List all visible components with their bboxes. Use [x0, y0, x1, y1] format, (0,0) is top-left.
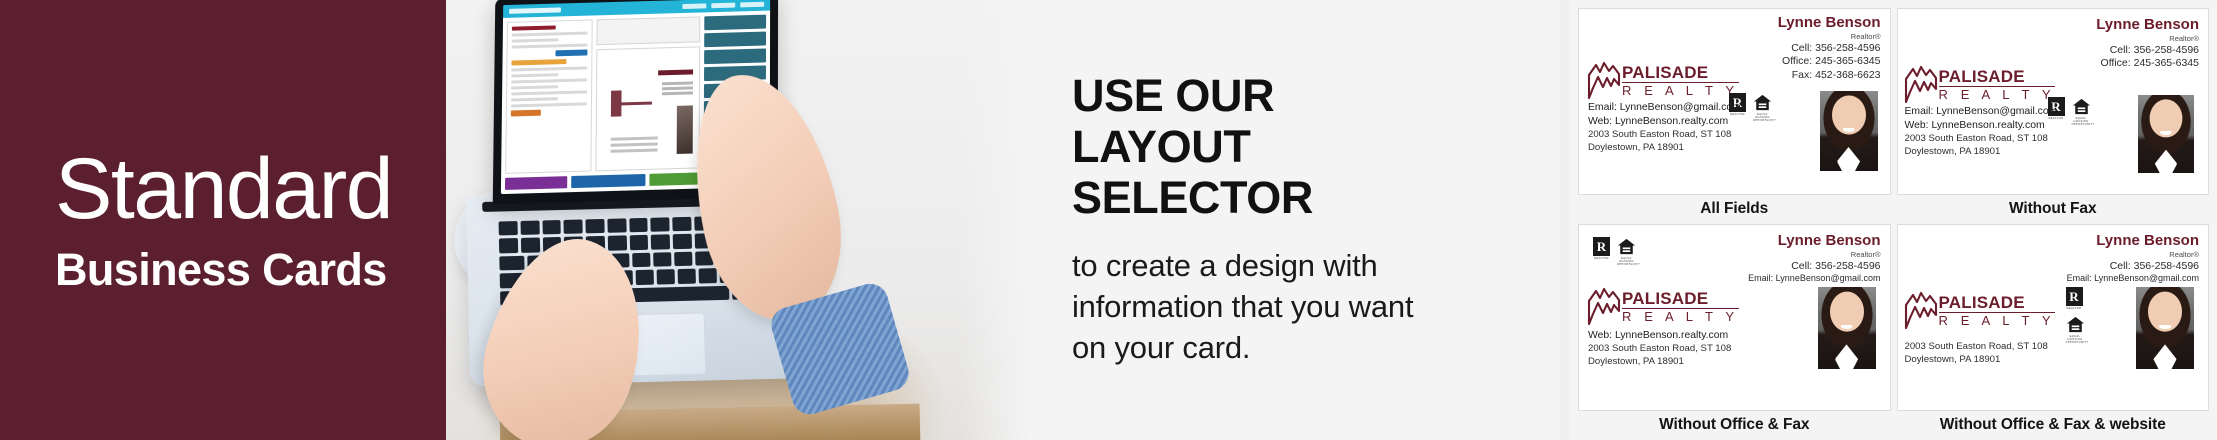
agent-address-2: Doylestown, PA 18901 [1588, 142, 1774, 155]
logo-top-text: PALISADE [1939, 69, 2056, 87]
page-title: Standard [55, 147, 446, 231]
screen-brand-logo [509, 7, 561, 13]
hero-panel: Standard Business Cards [0, 0, 446, 440]
card-label-all-fields: All Fields [1578, 195, 1891, 218]
promo-heading-line-3: SELECTOR [1072, 173, 1560, 224]
promo-heading-line-1: USE OUR [1072, 71, 1560, 122]
equal-housing-caption: EQUAL HOUSING OPPORTUNITY [1617, 257, 1636, 266]
agent-address-1: 2003 South Easton Road, ST 108 [1588, 129, 1774, 142]
promo-subtext: to create a design with information that… [1072, 246, 1560, 369]
agent-email: Email: LynneBenson@gmail.com [1944, 273, 2199, 285]
agent-cell: Cell: 356-258-4596 [1944, 260, 2199, 273]
logo-bottom-text: R E A L T Y [1939, 313, 2056, 329]
card-header: Lynne Benson Realtor® Cell: 356-258-4596… [1638, 233, 1880, 285]
palisade-mark-icon [1904, 291, 1938, 329]
agent-avatar [2136, 287, 2194, 369]
promo-heading-line-2: LAYOUT [1072, 122, 1560, 173]
logo-top-text: PALISADE [1622, 291, 1739, 309]
brand-logo: PALISADE R E A L T Y [1587, 287, 1739, 325]
card-tile-without-office-fax-website[interactable]: Lynne Benson Realtor® Cell: 356-258-4596… [1897, 224, 2210, 434]
card-address-block: Email: LynneBenson@gmail.com Web: LynneB… [1588, 101, 1774, 155]
logo-top-text: PALISADE [1939, 295, 2056, 313]
palisade-logo: PALISADE R E A L T Y [1904, 65, 2056, 103]
palisade-mark-icon [1904, 65, 1938, 103]
card-header: Lynne Benson Realtor® Cell: 356-258-4596… [1944, 233, 2199, 285]
agent-avatar [1818, 287, 1876, 369]
agent-cell: Cell: 356-258-4596 [1638, 260, 1880, 273]
agent-address-2: Doylestown, PA 18901 [1905, 146, 2098, 159]
equal-housing-icon: EQUAL HOUSING OPPORTUNITY [1617, 237, 1636, 266]
business-card-preview[interactable]: Lynne Benson Realtor® Cell: 356-258-4596… [1897, 224, 2210, 411]
palisade-logo: PALISADE R E A L T Y [1587, 61, 1739, 99]
card-tile-without-office-fax[interactable]: Lynne Benson Realtor® Cell: 356-258-4596… [1578, 224, 1891, 434]
equal-housing-house-icon [1617, 237, 1636, 256]
agent-contact: Cell: 356-258-4596 Email: LynneBenson@gm… [1944, 260, 2199, 285]
promo-heading: USE OUR LAYOUT SELECTOR [1072, 71, 1560, 224]
palisade-wordmark: PALISADE R E A L T Y [1939, 69, 2056, 103]
mountain-icon [1904, 65, 1938, 103]
card-layout-grid: Lynne Benson Realtor® Cell: 356-258-4596… [1570, 0, 2217, 440]
agent-role: Realtor® [1657, 32, 1881, 41]
agent-address-1: 2003 South Easton Road, ST 108 [1588, 343, 1781, 356]
logo-bottom-text: R E A L T Y [1939, 87, 2056, 103]
card-address-block: 2003 South Easton Road, ST 108 Doylestow… [1905, 341, 2091, 367]
promo-subtext-line-1: to create a design with [1072, 246, 1560, 287]
agent-web: Web: LynneBenson.realty.com [1588, 115, 1774, 129]
screen-nav [682, 2, 764, 9]
equal-housing-icon: EQUAL HOUSING OPPORTUNITY [2066, 315, 2085, 344]
realtor-badge-caption: REALTOR [1593, 257, 1610, 260]
realtor-badge-icon: R REALTOR [1593, 237, 1610, 260]
screen-form-panel [505, 19, 593, 173]
palisade-wordmark: PALISADE R E A L T Y [1622, 65, 1739, 99]
promo-copy: USE OUR LAYOUT SELECTOR to create a desi… [1050, 0, 1560, 440]
palisade-logo: PALISADE R E A L T Y [1587, 287, 1739, 325]
card-label-without-fax: Without Fax [1897, 195, 2210, 218]
logo-bottom-text: R E A L T Y [1622, 83, 1739, 99]
brand-logo: PALISADE R E A L T Y [1904, 291, 2056, 329]
agent-cell: Cell: 356-258-4596 [1975, 44, 2199, 57]
logo-top-text: PALISADE [1622, 65, 1739, 83]
mountain-icon [1587, 61, 1621, 99]
card-tile-all-fields[interactable]: Lynne Benson Realtor® Cell: 356-258-4596… [1578, 8, 1891, 218]
palisade-mark-icon [1587, 287, 1621, 325]
photo-fade [960, 0, 1050, 440]
mountain-icon [1904, 291, 1938, 329]
agent-address-1: 2003 South Easton Road, ST 108 [1905, 133, 2098, 146]
screen-card-preview [595, 46, 700, 171]
agent-address-2: Doylestown, PA 18901 [1905, 354, 2091, 367]
realtor-r-glyph: R [1593, 237, 1610, 256]
agent-role: Realtor® [1944, 250, 2199, 259]
agent-avatar [1820, 91, 1878, 171]
laptop-image [460, 0, 1020, 440]
promo-banner: Standard Business Cards [0, 0, 2217, 440]
compliance-badges: R REALTOR EQUAL HOUSING OPPORTUNITY [1593, 237, 1636, 266]
agent-email: Email: LynneBenson@gmail.com [1905, 105, 2098, 119]
realtor-r-glyph: R [2066, 287, 2083, 306]
palisade-mark-icon [1587, 61, 1621, 99]
business-card-preview[interactable]: Lynne Benson Realtor® Cell: 356-258-4596… [1578, 224, 1891, 411]
palisade-wordmark: PALISADE R E A L T Y [1939, 295, 2056, 329]
agent-web: Web: LynneBenson.realty.com [1905, 119, 2098, 133]
agent-avatar [2138, 95, 2194, 173]
promo-subtext-line-2: information that you want [1072, 287, 1560, 328]
agent-email: Email: LynneBenson@gmail.com [1638, 273, 1880, 285]
logo-bottom-text: R E A L T Y [1622, 309, 1739, 325]
agent-role: Realtor® [1975, 34, 2199, 43]
agent-name: Lynne Benson [1975, 17, 2199, 33]
business-card-preview[interactable]: Lynne Benson Realtor® Cell: 356-258-4596… [1578, 8, 1891, 195]
palisade-logo: PALISADE R E A L T Y [1904, 291, 2056, 329]
agent-contact: Cell: 356-258-4596 Email: LynneBenson@gm… [1638, 260, 1880, 285]
card-address-block: Web: LynneBenson.realty.com 2003 South E… [1588, 329, 1781, 369]
card-label-without-office-fax-website: Without Office & Fax & website [1897, 411, 2210, 434]
equal-housing-house-icon [2066, 315, 2085, 334]
brand-logo: PALISADE R E A L T Y [1904, 65, 2056, 103]
card-label-without-office-fax: Without Office & Fax [1578, 411, 1891, 434]
hero-photo [446, 0, 1050, 440]
promo-subtext-line-3: on your card. [1072, 328, 1560, 369]
agent-name: Lynne Benson [1944, 233, 2199, 249]
agent-name: Lynne Benson [1657, 15, 1881, 31]
palisade-wordmark: PALISADE R E A L T Y [1622, 291, 1739, 325]
agent-address-1: 2003 South Easton Road, ST 108 [1905, 341, 2091, 354]
agent-email: Email: LynneBenson@gmail.com [1588, 101, 1774, 115]
screen-canvas [595, 16, 700, 171]
agent-address-2: Doylestown, PA 18901 [1588, 356, 1781, 369]
compliance-badges: R REALTOR EQUAL HOUSING OPPORTUNITY [2066, 287, 2085, 344]
realtor-badge-caption: REALTOR [2066, 307, 2083, 310]
card-tile-without-fax[interactable]: Lynne Benson Realtor® Cell: 356-258-4596… [1897, 8, 2210, 218]
brand-logo: PALISADE R E A L T Y [1587, 61, 1739, 99]
agent-name: Lynne Benson [1638, 233, 1880, 249]
screen-toolbar [596, 16, 700, 45]
card-address-block: Email: LynneBenson@gmail.com Web: LynneB… [1905, 105, 2098, 159]
agent-web: Web: LynneBenson.realty.com [1588, 329, 1781, 343]
mountain-icon [1587, 287, 1621, 325]
business-card-preview[interactable]: Lynne Benson Realtor® Cell: 356-258-4596… [1897, 8, 2210, 195]
page-subtitle: Business Cards [55, 246, 446, 293]
agent-cell: Cell: 356-258-4596 [1657, 42, 1881, 55]
agent-role: Realtor® [1638, 250, 1880, 259]
realtor-badge-icon: R REALTOR [2066, 287, 2083, 310]
card-header: Lynne Benson Realtor® Cell: 356-258-4596… [1975, 17, 2199, 71]
